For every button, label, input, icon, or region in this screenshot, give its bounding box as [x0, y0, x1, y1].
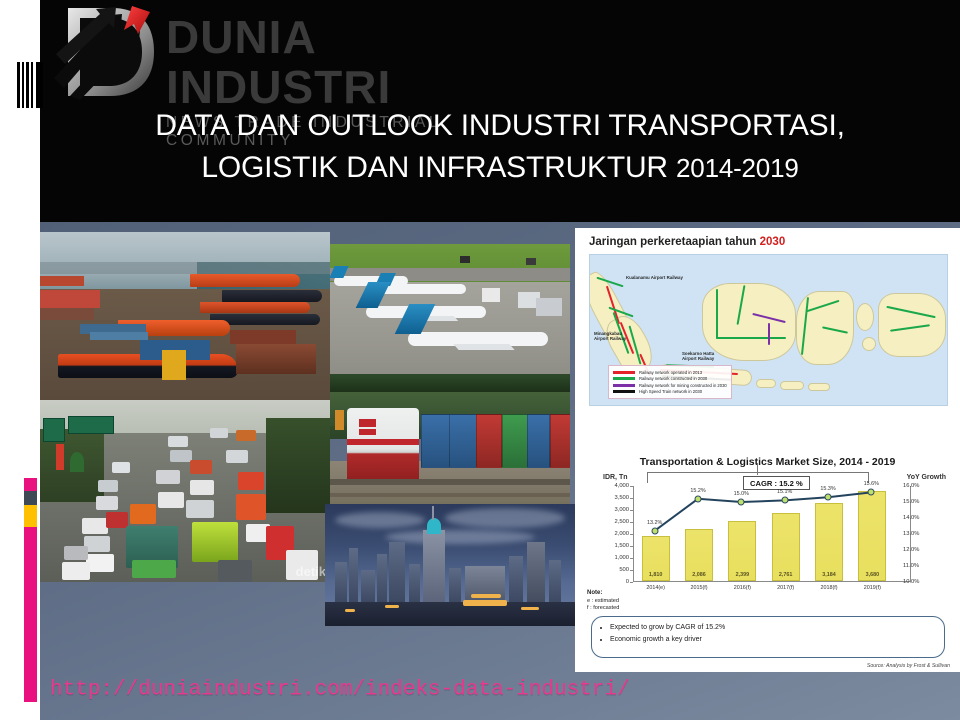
legend-label: High Speed Train network in 2030: [639, 389, 702, 394]
logo-title: DUNIA INDUSTRI: [166, 12, 550, 112]
chart-y-tickmark: [630, 582, 633, 583]
chart-growth-label: 15.0%: [734, 491, 749, 497]
legend-swatch-black: [613, 390, 635, 393]
accent-segment-pink-long: [24, 527, 37, 702]
barcode-decoration-icon: [17, 62, 43, 108]
map-canvas: Kualanamu Airport Railway Minangkabau Ai…: [589, 254, 948, 406]
chart-title: Transportation & Logistics Market Size, …: [575, 456, 960, 468]
legend-row: High Speed Train network in 2030: [613, 389, 727, 394]
chart-source: Source: Analysis by Frost & Sullivan: [867, 663, 950, 669]
chart-y2-axis-label: YoY Growth: [907, 474, 946, 481]
chart-x-label: 2014(e): [643, 585, 669, 591]
legend-label: Railway network operated in 2013: [639, 370, 702, 375]
chart-plot-area: 4,0003,5003,0002,5002,0001,5001,00050001…: [633, 486, 893, 582]
chart-growth-label: 15.2%: [690, 488, 705, 494]
map-title-year: 2030: [760, 236, 786, 248]
chart-y2-tick: 11.0%: [903, 563, 919, 569]
legend-label: Railway network for mining constructed i…: [639, 383, 727, 388]
chart-growth-label: 15.1%: [777, 489, 792, 495]
legend-label: Railway network constructed in 2030: [639, 376, 707, 381]
map-label-soekarno-hatta: Soekarno Hatta Airport Railway: [682, 351, 726, 362]
chart-data-point: [738, 499, 745, 506]
chart-data-point: [651, 527, 658, 534]
photo-port-shipyard: [40, 232, 330, 400]
photo-watermark: detik: [296, 564, 326, 579]
chart-y-tick: 2,500: [614, 519, 629, 525]
accent-color-bar: [24, 478, 37, 702]
chart-y-tick: 1,000: [614, 555, 629, 561]
photo-city-skyline: [325, 504, 575, 626]
callout-bullet: Economic growth a key driver: [610, 636, 944, 643]
legend-swatch-red: [613, 371, 635, 374]
chart-x-label: 2018(f): [816, 585, 842, 591]
footer-url[interactable]: http://duniaindustri.com/indeks-data-ind…: [50, 679, 630, 702]
title-years: 2014-2019: [676, 153, 799, 183]
chart-growth-label: 13.2%: [647, 520, 662, 526]
legend-row: Railway network constructed in 2030: [613, 376, 727, 381]
chart-y-tick: 4,000: [614, 483, 629, 489]
chart-x-label: 2019(f): [859, 585, 885, 591]
chart-y2-tick: 10.0%: [903, 579, 919, 585]
chart-note: Note: e : estimated f : forecasted: [587, 590, 619, 613]
title-line-1: DATA DAN OUTLOOK INDUSTRI TRANSPORTASI,: [40, 105, 960, 147]
chart-data-point: [695, 495, 702, 502]
legend-swatch-green: [613, 377, 635, 380]
map-panel-railway-network: Jaringan perkeretaapian tahun 2030: [575, 228, 960, 450]
header-band: DUNIA INDUSTRI NEWS TRADE INDUSTRIAL COM…: [40, 0, 960, 222]
chart-y-tick: 2,000: [614, 531, 629, 537]
note-heading: Note:: [587, 590, 602, 596]
chart-growth-label: 15.6%: [864, 481, 879, 487]
callout-bullet: Expected to grow by CAGR of 15.2%: [610, 624, 944, 631]
accent-segment-pink-top: [24, 478, 37, 491]
chart-y2-tick: 13.0%: [903, 531, 919, 537]
title-line-2: LOGISTIK DAN INFRASTRUKTUR: [201, 151, 676, 184]
arrow-growth-d-logo-icon: [50, 4, 158, 100]
photo-airport-apron: [330, 244, 570, 392]
chart-growth-label: 15.3%: [820, 486, 835, 492]
photo-freight-train: [330, 392, 570, 504]
legend-row: Railway network operated in 2013: [613, 370, 727, 375]
chart-y-axis-label: IDR, Tn: [603, 474, 628, 481]
chart-data-point: [825, 494, 832, 501]
accent-segment-yellow: [24, 505, 37, 527]
chart-panel-market-size: Transportation & Logistics Market Size, …: [575, 450, 960, 672]
chart-y2-tick: 12.0%: [903, 547, 919, 553]
note-line-1: e : estimated: [587, 598, 619, 604]
chart-callout-box: Expected to grow by CAGR of 15.2% Econom…: [591, 616, 945, 658]
brand-logo: DUNIA INDUSTRI NEWS TRADE INDUSTRIAL COM…: [50, 4, 550, 104]
map-title: Jaringan perkeretaapian tahun 2030: [589, 236, 785, 248]
slide-canvas: DUNIA INDUSTRI NEWS TRADE INDUSTRIAL COM…: [0, 0, 960, 720]
photo-traffic-jam: detik: [40, 400, 330, 582]
legend-row: Railway network for mining constructed i…: [613, 383, 727, 388]
accent-segment-slate: [24, 491, 37, 505]
legend-swatch-purple: [613, 384, 635, 387]
chart-y2-tick: 16.0%: [903, 483, 919, 489]
map-legend: Railway network operated in 2013 Railway…: [608, 365, 732, 399]
map-title-text: Jaringan perkeretaapian tahun: [589, 236, 760, 248]
chart-growth-line: [633, 486, 893, 582]
title-line-2-wrap: LOGISTIK DAN INFRASTRUKTUR 2014-2019: [40, 147, 960, 189]
chart-y-tick: 3,500: [614, 495, 629, 501]
chart-data-point: [781, 497, 788, 504]
chart-y2-tick: 15.0%: [903, 499, 919, 505]
chart-x-label: 2015(f): [686, 585, 712, 591]
map-label-minangkabau: Minangkabau Airport Railway: [594, 331, 634, 342]
note-line-2: f : forecasted: [587, 605, 619, 611]
chart-data-point: [868, 489, 875, 496]
chart-y-tick: 500: [619, 567, 629, 573]
chart-x-label: 2017(f): [773, 585, 799, 591]
chart-y-tick: 0: [626, 579, 629, 585]
cagr-brace-stem: [757, 463, 758, 475]
chart-y-tick: 3,000: [614, 507, 629, 513]
chart-x-label: 2016(f): [729, 585, 755, 591]
chart-y2-tick: 14.0%: [903, 515, 919, 521]
page-title: DATA DAN OUTLOOK INDUSTRI TRANSPORTASI, …: [40, 105, 960, 189]
map-label-kualanamu: Kualanamu Airport Railway: [626, 275, 683, 280]
chart-y-tick: 1,500: [614, 543, 629, 549]
